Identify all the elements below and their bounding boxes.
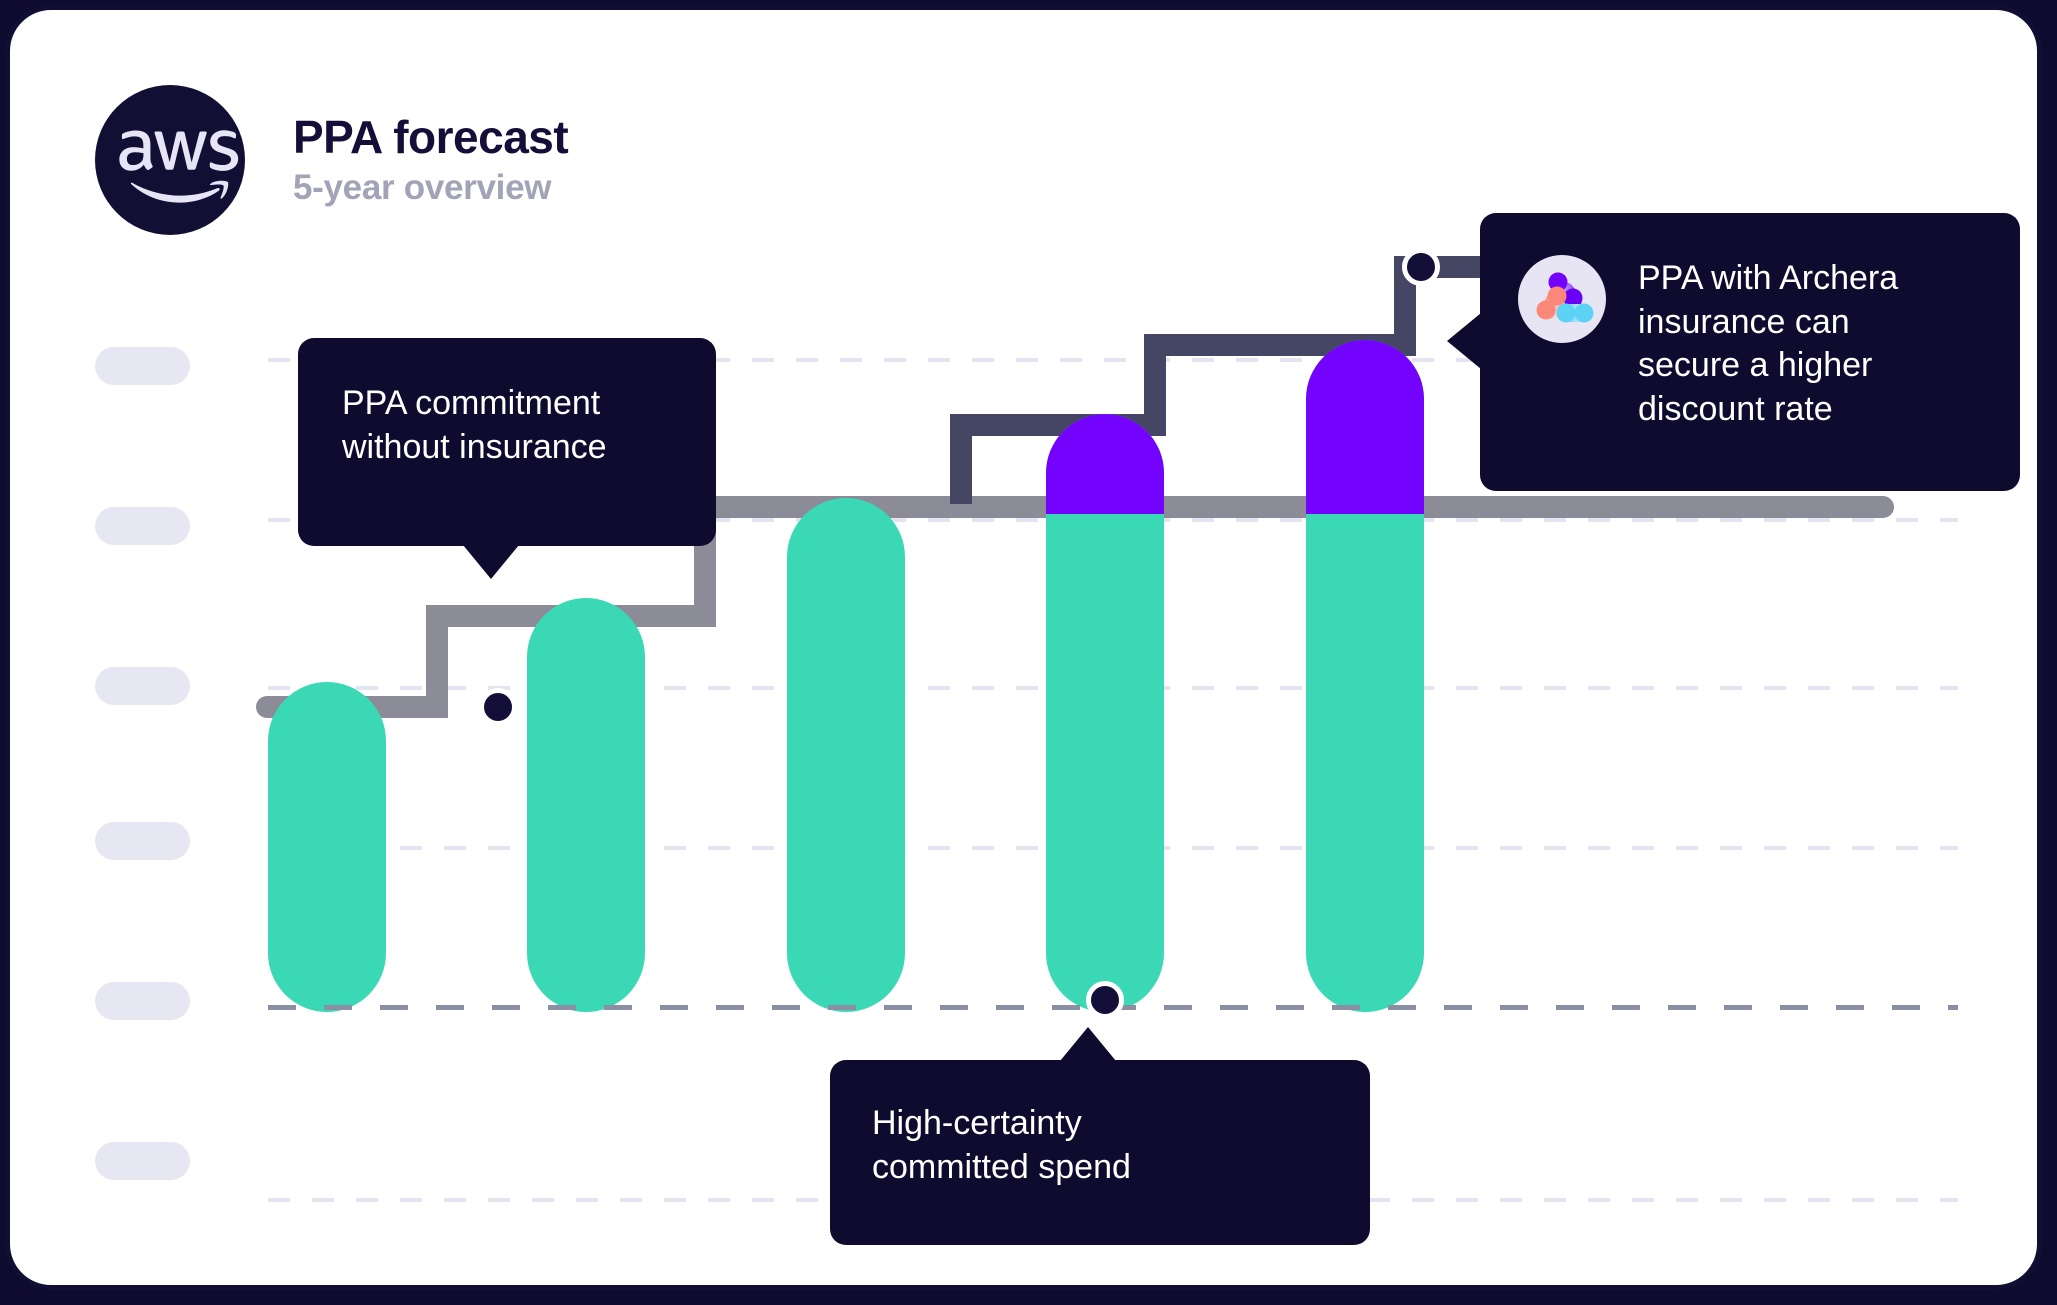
tooltip-ppa-commitment-text: PPA commitment without insurance [342, 382, 716, 469]
bar-year-4 [1046, 414, 1164, 1012]
marker-dark-step-top[interactable] [1402, 248, 1440, 286]
dark-step-riser-1 [1144, 334, 1166, 436]
dark-step-segment-1 [950, 414, 1166, 436]
chart-card: PPA forecast 5-year overview [5, 5, 2042, 1290]
bar-year-3 [787, 498, 905, 1012]
bar-year-2 [527, 598, 645, 1012]
page-title: PPA forecast [293, 112, 568, 163]
tooltip-arrow-down-icon [463, 545, 519, 579]
gray-step-segment-2 [426, 605, 716, 627]
tooltip-arrow-up-icon [1060, 1027, 1116, 1061]
dark-step-segment-2 [1144, 334, 1416, 356]
axis-pill-3 [95, 667, 190, 705]
marker-gray-step[interactable] [479, 688, 517, 726]
card-header: PPA forecast 5-year overview [95, 85, 568, 235]
axis-pill-1 [95, 347, 190, 385]
tooltip-archera-text: PPA with Archera insurance can secure a … [1638, 253, 1898, 491]
dark-step-riser-2 [1394, 256, 1416, 356]
header-text-block: PPA forecast 5-year overview [293, 112, 568, 207]
dark-step-riser-0 [950, 414, 972, 504]
tooltip-ppa-commitment[interactable]: PPA commitment without insurance [298, 338, 716, 546]
axis-pill-4 [95, 822, 190, 860]
tooltip-committed-spend[interactable]: High-certainty committed spend [830, 1060, 1370, 1245]
baseline-dashed [268, 1005, 1958, 1010]
gray-step-segment-1 [256, 696, 446, 718]
bar-year-5-purple-cap [1306, 340, 1424, 514]
marker-committed-spend[interactable] [1086, 981, 1124, 1019]
tooltip-arrow-left-icon [1447, 313, 1481, 369]
gridline-3 [268, 686, 1958, 690]
aws-logo [95, 85, 245, 235]
gray-step-segment-3 [694, 496, 1894, 518]
bar-year-5 [1306, 340, 1424, 1012]
bar-year-4-purple-cap [1046, 414, 1164, 514]
axis-pill-6 [95, 1142, 190, 1180]
axis-pill-5 [95, 982, 190, 1020]
archera-logo [1516, 253, 1608, 345]
gridline-4 [268, 846, 1958, 850]
page-subtitle: 5-year overview [293, 169, 568, 208]
gray-step-riser-1 [426, 605, 448, 718]
tooltip-archera-insurance[interactable]: PPA with Archera insurance can secure a … [1480, 213, 2020, 491]
bar-year-1 [268, 682, 386, 1012]
tooltip-committed-spend-text: High-certainty committed spend [872, 1102, 1370, 1189]
axis-pill-2 [95, 507, 190, 545]
